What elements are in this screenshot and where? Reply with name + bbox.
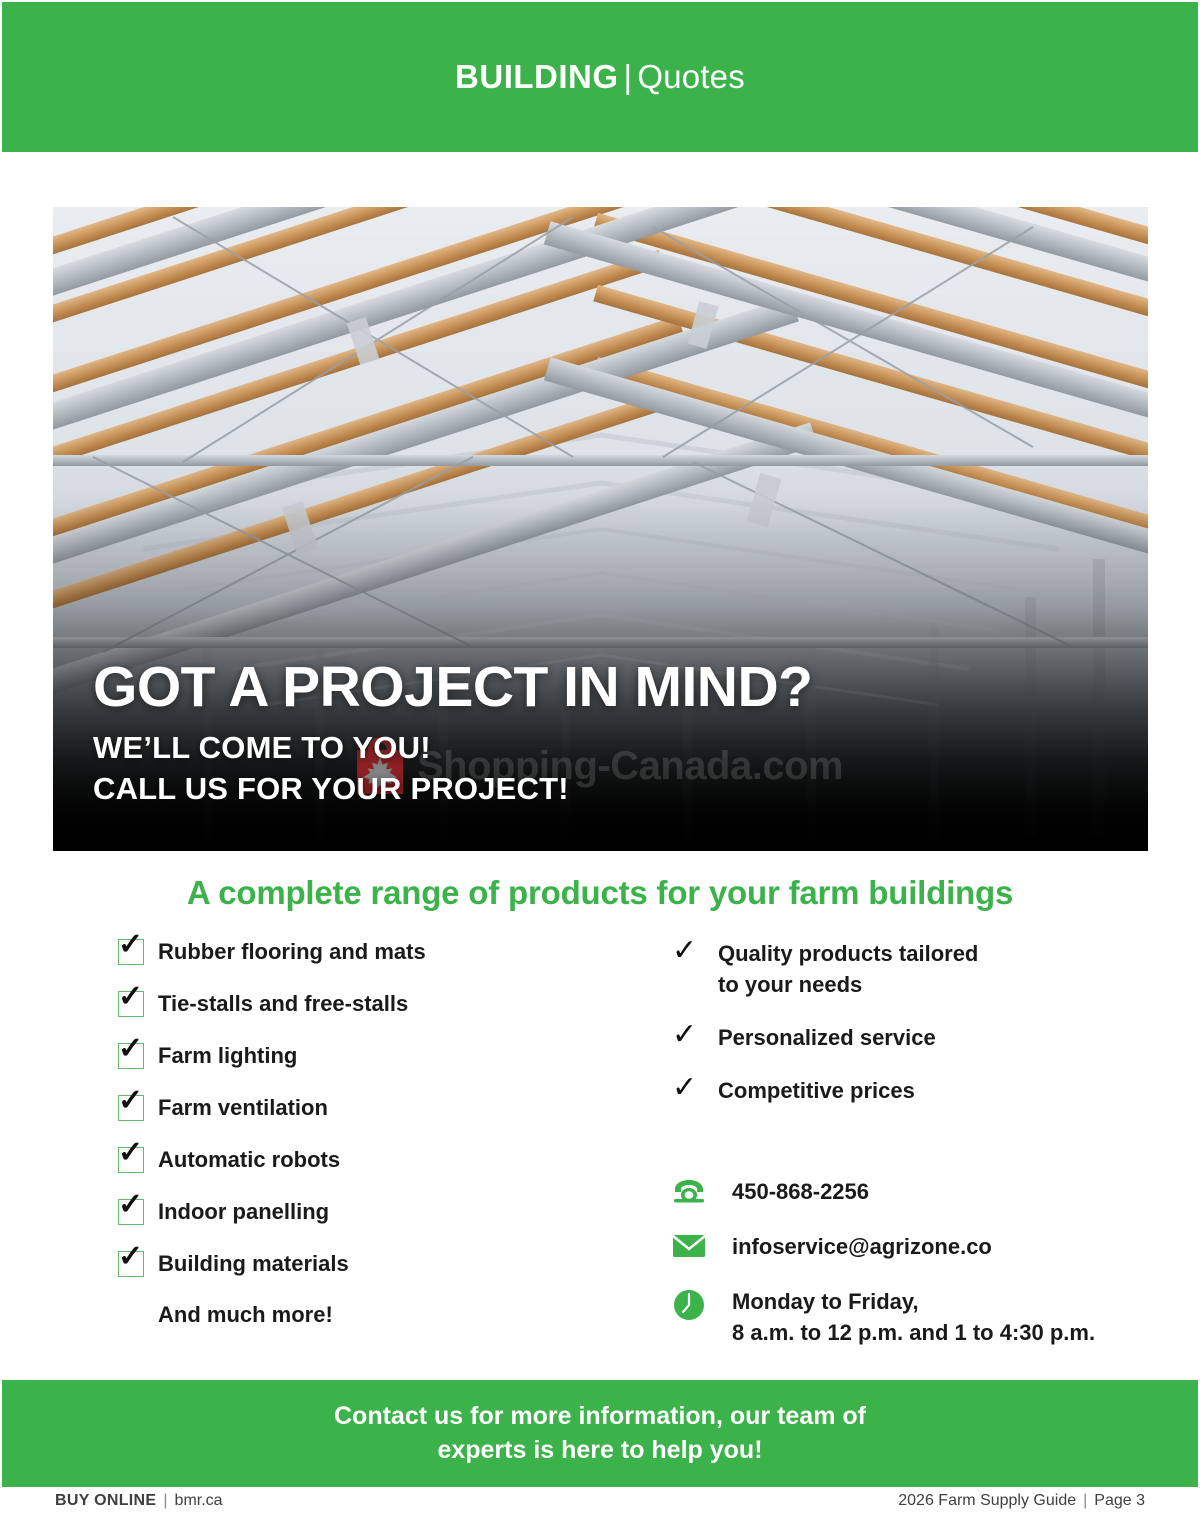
checklist-item-label: Building materials [158, 1250, 349, 1278]
footer-buy-online[interactable]: BUY ONLINE|bmr.ca [55, 1492, 223, 1510]
page-title-category: BUILDING [455, 58, 619, 95]
telephone-icon [672, 1176, 732, 1204]
clock-icon [672, 1286, 732, 1322]
guide-title: 2026 Farm Supply Guide [898, 1492, 1076, 1509]
page-root: BUILDING|Quotes [0, 0, 1200, 1520]
check-mark-icon: ✓ [118, 1242, 143, 1272]
benefits-and-contact: ✓ Quality products tailored to your need… [600, 938, 1200, 1372]
check-mark-icon: ✓ [118, 982, 143, 1012]
checkbox-icon: ✓ [118, 1147, 144, 1173]
footer-guide-info: 2026 Farm Supply Guide|Page 3 [898, 1492, 1145, 1510]
benefit-label-line-1: Quality products tailored [718, 938, 978, 969]
list-item: ✓ Automatic robots [118, 1146, 600, 1178]
content-columns: ✓ Rubber flooring and mats ✓ Tie-stalls … [0, 938, 1200, 1372]
footer-cta-text: Contact us for more information, our tea… [334, 1400, 866, 1468]
contact-hours-row: Monday to Friday, 8 a.m. to 12 p.m. and … [672, 1286, 1200, 1348]
checklist-footnote: And much more! [158, 1302, 600, 1328]
list-item: ✓ Personalized service [672, 1022, 1200, 1053]
envelope-icon [672, 1231, 732, 1259]
checklist-item-label: Indoor panelling [158, 1198, 329, 1226]
business-hours-line-2: 8 a.m. to 12 p.m. and 1 to 4:30 p.m. [732, 1317, 1095, 1348]
list-item: ✓ Quality products tailored to your need… [672, 938, 1200, 1000]
contact-email-row[interactable]: infoservice@agrizone.co [672, 1231, 1200, 1262]
checkbox-icon: ✓ [118, 1251, 144, 1277]
check-mark-icon: ✓ [672, 1075, 718, 1101]
hero-subhead-line-2: CALL US FOR YOUR PROJECT! [93, 768, 812, 809]
product-checklist: ✓ Rubber flooring and mats ✓ Tie-stalls … [0, 938, 600, 1372]
check-mark-icon: ✓ [672, 938, 718, 964]
phone-number[interactable]: 450-868-2256 [732, 1176, 869, 1207]
page-number: Page 3 [1094, 1492, 1145, 1509]
list-item: ✓ Farm lighting [118, 1042, 600, 1074]
checkbox-icon: ✓ [118, 1199, 144, 1225]
hero-subhead: WE’LL COME TO YOU! CALL US FOR YOUR PROJ… [93, 727, 812, 809]
list-item: ✓ Indoor panelling [118, 1198, 600, 1230]
check-mark-icon: ✓ [118, 1034, 143, 1064]
buy-online-label: BUY ONLINE [55, 1492, 156, 1509]
business-hours: Monday to Friday, 8 a.m. to 12 p.m. and … [732, 1286, 1095, 1348]
benefit-label: Personalized service [718, 1022, 936, 1053]
checklist-item-label: Farm lighting [158, 1042, 297, 1070]
list-item: ✓ Rubber flooring and mats [118, 938, 600, 970]
contact-phone-row[interactable]: 450-868-2256 [672, 1176, 1200, 1207]
check-mark-icon: ✓ [118, 1190, 143, 1220]
list-item: ✓ Building materials [118, 1250, 600, 1282]
list-item: ✓ Tie-stalls and free-stalls [118, 990, 600, 1022]
hero-banner: Shopping-Canada.com GOT A PROJECT IN MIN… [53, 207, 1148, 851]
footer-cta-line-2: experts is here to help you! [334, 1434, 866, 1468]
check-mark-icon: ✓ [118, 1138, 143, 1168]
page-title: BUILDING|Quotes [455, 58, 745, 96]
checkbox-icon: ✓ [118, 939, 144, 965]
check-mark-icon: ✓ [672, 1022, 718, 1048]
page-header-band: BUILDING|Quotes [2, 2, 1198, 152]
footer-cta-line-1: Contact us for more information, our tea… [334, 1400, 866, 1434]
checkbox-icon: ✓ [118, 1095, 144, 1121]
page-title-subject: Quotes [637, 58, 745, 95]
page-title-separator: | [624, 58, 633, 95]
checkbox-icon: ✓ [118, 991, 144, 1017]
footer-meta: BUY ONLINE|bmr.ca 2026 Farm Supply Guide… [0, 1492, 1200, 1510]
check-mark-icon: ✓ [118, 1086, 143, 1116]
email-address[interactable]: infoservice@agrizone.co [732, 1231, 992, 1262]
list-item: ✓ Farm ventilation [118, 1094, 600, 1126]
benefit-label-line-2: to your needs [718, 969, 978, 1000]
checklist-item-label: Automatic robots [158, 1146, 340, 1174]
business-hours-line-1: Monday to Friday, [732, 1286, 1095, 1317]
hero-copy: GOT A PROJECT IN MIND? WE’LL COME TO YOU… [93, 658, 812, 809]
website-url[interactable]: bmr.ca [175, 1492, 223, 1509]
benefit-label: Competitive prices [718, 1075, 915, 1106]
footer-separator-right: | [1083, 1492, 1087, 1509]
checklist-item-label: Tie-stalls and free-stalls [158, 990, 408, 1018]
benefit-label: Quality products tailored to your needs [718, 938, 978, 1000]
section-heading: A complete range of products for your fa… [0, 874, 1200, 912]
contact-block: 450-868-2256 infoservice@agrizone.co [672, 1176, 1200, 1348]
list-item: ✓ Competitive prices [672, 1075, 1200, 1106]
hero-subhead-line-1: WE’LL COME TO YOU! [93, 727, 812, 768]
checkbox-icon: ✓ [118, 1043, 144, 1069]
checklist-item-label: Farm ventilation [158, 1094, 328, 1122]
hero-headline: GOT A PROJECT IN MIND? [93, 658, 812, 716]
footer-cta-band: Contact us for more information, our tea… [2, 1380, 1198, 1487]
footer-separator-left: | [163, 1492, 167, 1509]
checklist-item-label: Rubber flooring and mats [158, 938, 426, 966]
check-mark-icon: ✓ [118, 930, 143, 960]
